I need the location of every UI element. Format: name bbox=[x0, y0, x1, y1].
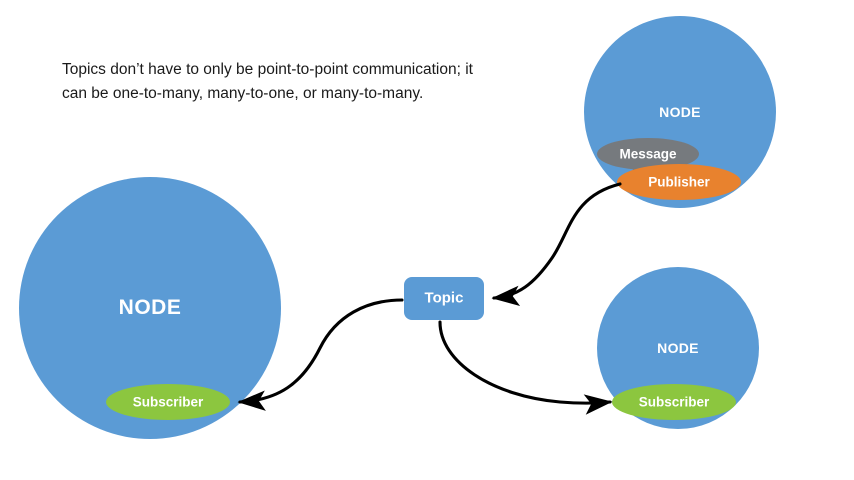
diagram-graphics bbox=[0, 0, 854, 480]
topic-box[interactable] bbox=[404, 277, 484, 320]
publisher-ellipse[interactable] bbox=[617, 164, 741, 200]
slide-canvas: Topics don’t have to only be point-to-po… bbox=[0, 0, 854, 480]
subscriber-ellipse-left[interactable] bbox=[106, 384, 230, 420]
subscriber-ellipse-bottom-right[interactable] bbox=[612, 384, 736, 420]
arrow-publisher-to-topic bbox=[494, 184, 620, 298]
arrow-topic-to-bottom-right-subscriber bbox=[440, 322, 610, 403]
